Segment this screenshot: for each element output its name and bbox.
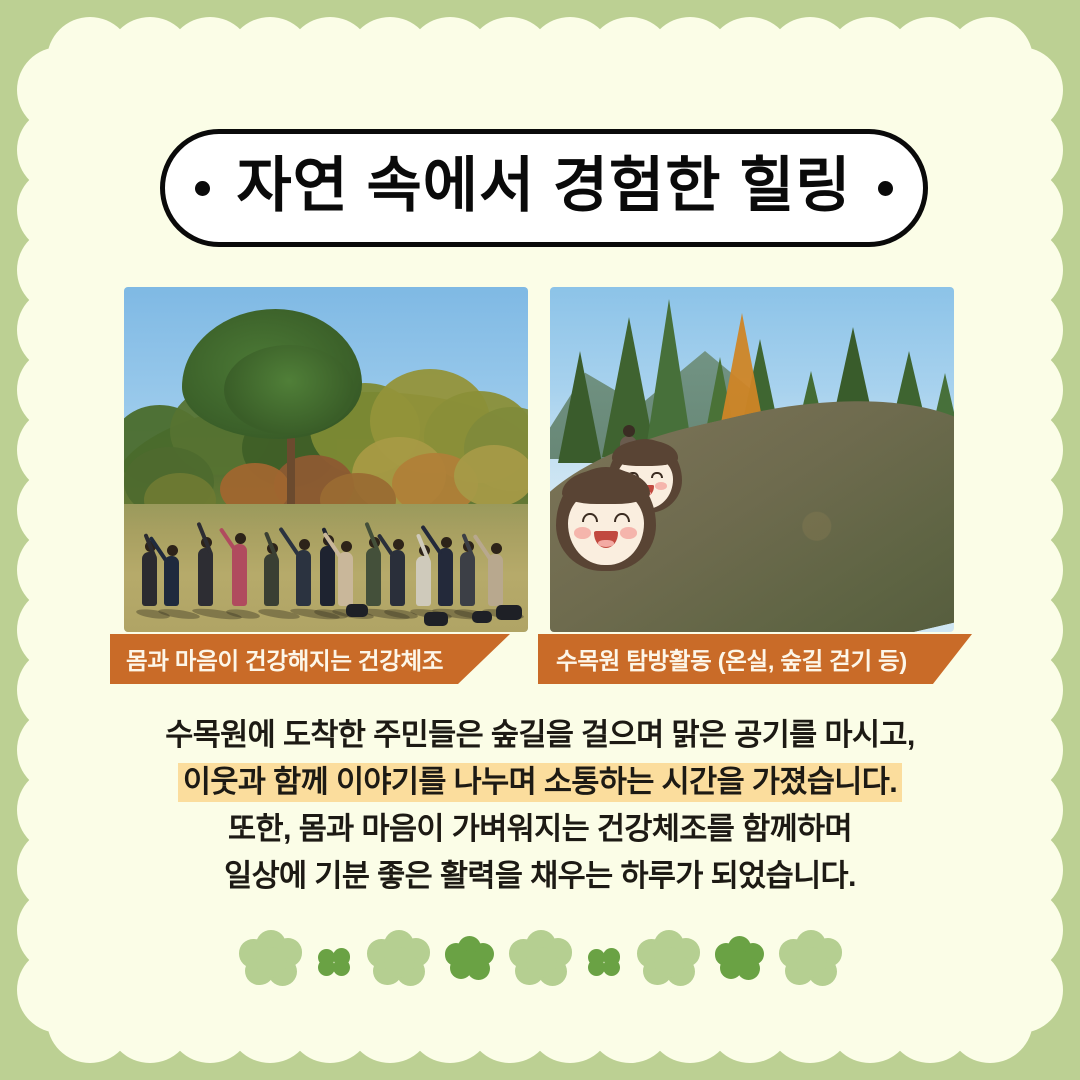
- person-exercising: [438, 548, 453, 606]
- clover-shape: [637, 930, 699, 983]
- face-sticker-front: [556, 467, 656, 571]
- clover-shape: [715, 936, 763, 977]
- caption-right-text: 수목원 탐방활동 (온실, 숲길 걷기 등): [556, 642, 907, 676]
- body-line-1: 수목원에 도착한 주민들은 숲길을 걸으며 맑은 공기를 마시고,: [60, 712, 1020, 759]
- clover-petal: [333, 959, 351, 977]
- person-exercising: [264, 554, 279, 606]
- pine-canopy-upper: [224, 345, 354, 435]
- backpack-on-grass: [496, 605, 522, 620]
- body-line-2: 이웃과 함께 이야기를 나누며 소통하는 시간을 가졌습니다.: [60, 759, 1020, 806]
- person-exercising: [198, 548, 213, 606]
- caption-banner-right: 수목원 탐방활동 (온실, 숲길 걷기 등): [538, 634, 972, 684]
- person-exercising: [416, 556, 431, 606]
- person-exercising: [338, 552, 353, 606]
- backpack-on-grass: [346, 604, 368, 617]
- person-exercising: [390, 550, 405, 606]
- photo-scene-right: [550, 287, 954, 632]
- clover-shape: [509, 930, 571, 983]
- clover-shape: [317, 942, 351, 971]
- sticker-cheek-right: [655, 482, 668, 490]
- sticker-cheek-left: [574, 527, 591, 538]
- highlighted-text: 이웃과 함께 이야기를 나누며 소통하는 시간을 가졌습니다.: [178, 763, 902, 802]
- person-exercising: [164, 556, 179, 606]
- person-exercising: [488, 554, 503, 606]
- backpack-on-grass: [424, 612, 448, 626]
- body-line-4: 일상에 기분 좋은 활력을 채우는 하루가 되었습니다.: [60, 853, 1020, 900]
- caption-banner-left: 몸과 마음이 건강해지는 건강체조: [110, 634, 510, 684]
- clover-shape: [367, 930, 429, 983]
- photo-scene-left: [124, 287, 528, 632]
- clover-petal: [603, 959, 621, 977]
- arboretum-tour-photo: [550, 287, 954, 632]
- clover-shape: [587, 942, 621, 971]
- dot-icon-left: [195, 181, 210, 196]
- person-exercising: [232, 544, 247, 606]
- dot-icon-right: [878, 181, 893, 196]
- clover-shape: [239, 930, 301, 983]
- body-paragraph: 수목원에 도착한 주민들은 숲길을 걸으며 맑은 공기를 마시고, 이웃과 함께…: [60, 712, 1020, 900]
- clover-shape: [445, 936, 493, 977]
- clover-divider: [0, 922, 1080, 992]
- page-title-pill: 자연 속에서 경험한 힐링: [160, 129, 928, 247]
- clover-shape: [779, 930, 841, 983]
- person-exercising: [296, 550, 311, 606]
- health-exercise-photo: [124, 287, 528, 632]
- sticker-fringe: [612, 440, 677, 465]
- page-title: 자연 속에서 경험한 힐링: [236, 156, 851, 220]
- person-exercising: [142, 552, 157, 606]
- backpack-on-grass: [472, 611, 492, 623]
- poster-canvas: 자연 속에서 경험한 힐링: [0, 0, 1080, 1080]
- sticker-cheek-right: [620, 527, 637, 538]
- sticker-fringe: [562, 469, 650, 504]
- person-exercising: [460, 552, 475, 606]
- clover-petal: [458, 950, 482, 974]
- person-exercising: [366, 548, 381, 606]
- body-line-3: 또한, 몸과 마음이 가벼워지는 건강체조를 함께하며: [60, 806, 1020, 853]
- person-exercising: [320, 546, 335, 606]
- caption-left-text: 몸과 마음이 건강해지는 건강체조: [126, 642, 443, 676]
- foliage-blob: [454, 445, 528, 507]
- clover-petal: [728, 950, 752, 974]
